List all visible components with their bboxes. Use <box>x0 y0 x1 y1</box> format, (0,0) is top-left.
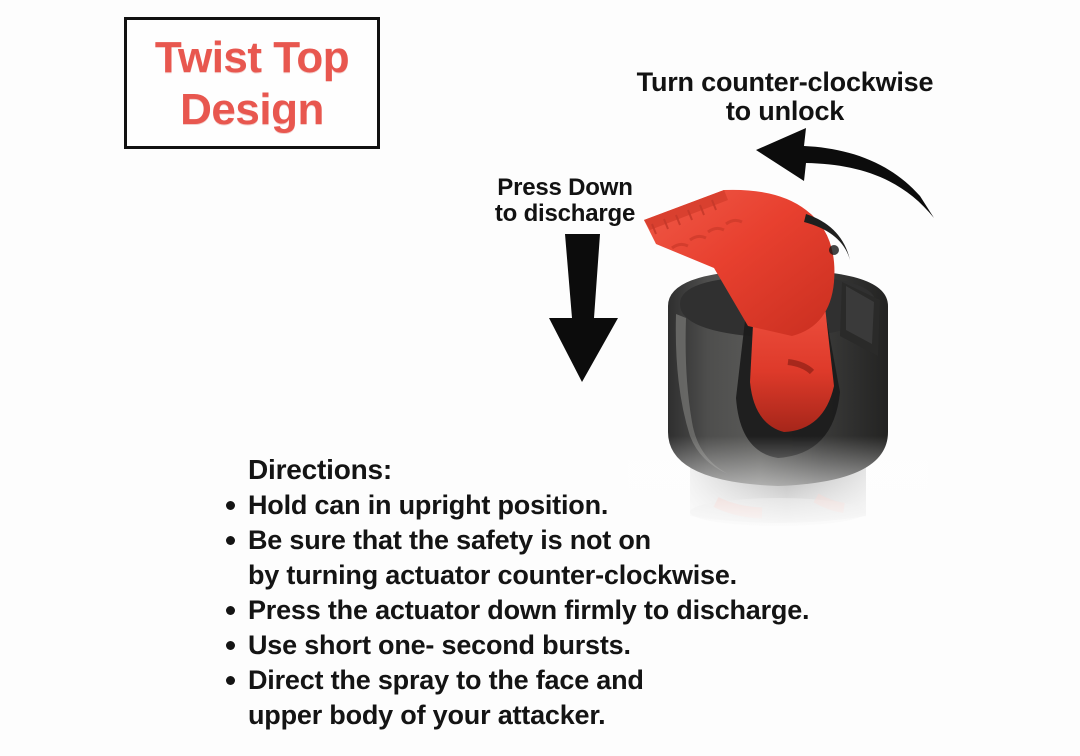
list-item-line-1: Direct the spray to the face and <box>248 665 644 695</box>
turn-label-line-2: to unlock <box>600 97 970 126</box>
bullet-icon <box>226 536 235 545</box>
bullet-icon <box>226 606 235 615</box>
list-item-line-1: Hold can in upright position. <box>248 490 608 520</box>
list-item-line-1: Be sure that the safety is not on <box>248 525 651 555</box>
down-arrow-icon <box>534 232 634 384</box>
list-item-line-2: by turning actuator counter-clockwise. <box>248 558 1016 593</box>
list-item: Direct the spray to the face and upper b… <box>226 663 1016 733</box>
list-item-line-2: upper body of your attacker. <box>248 698 1016 733</box>
list-item: Press the actuator down firmly to discha… <box>226 593 1016 628</box>
list-item: Be sure that the safety is not on by tur… <box>226 523 1016 593</box>
list-item-line-1: Use short one- second bursts. <box>248 630 631 660</box>
directions-block: Directions: Hold can in upright position… <box>226 452 1016 733</box>
title-line-1: Twist Top <box>155 32 349 84</box>
bullet-icon <box>226 676 235 685</box>
bullet-icon <box>226 501 235 510</box>
directions-heading: Directions: <box>248 452 1016 487</box>
list-item: Use short one- second bursts. <box>226 628 1016 663</box>
instruction-graphic: Twist Top Design Turn counter-clockwise … <box>0 0 1080 756</box>
directions-list: Hold can in upright position. Be sure th… <box>226 488 1016 733</box>
title-line-2: Design <box>180 84 324 136</box>
title-card: Twist Top Design <box>124 17 380 149</box>
turn-label-line-1: Turn counter-clockwise <box>600 68 970 97</box>
list-item: Hold can in upright position. <box>226 488 1016 523</box>
list-item-line-1: Press the actuator down firmly to discha… <box>248 595 809 625</box>
bullet-icon <box>226 641 235 650</box>
turn-counterclockwise-label: Turn counter-clockwise to unlock <box>600 68 970 126</box>
